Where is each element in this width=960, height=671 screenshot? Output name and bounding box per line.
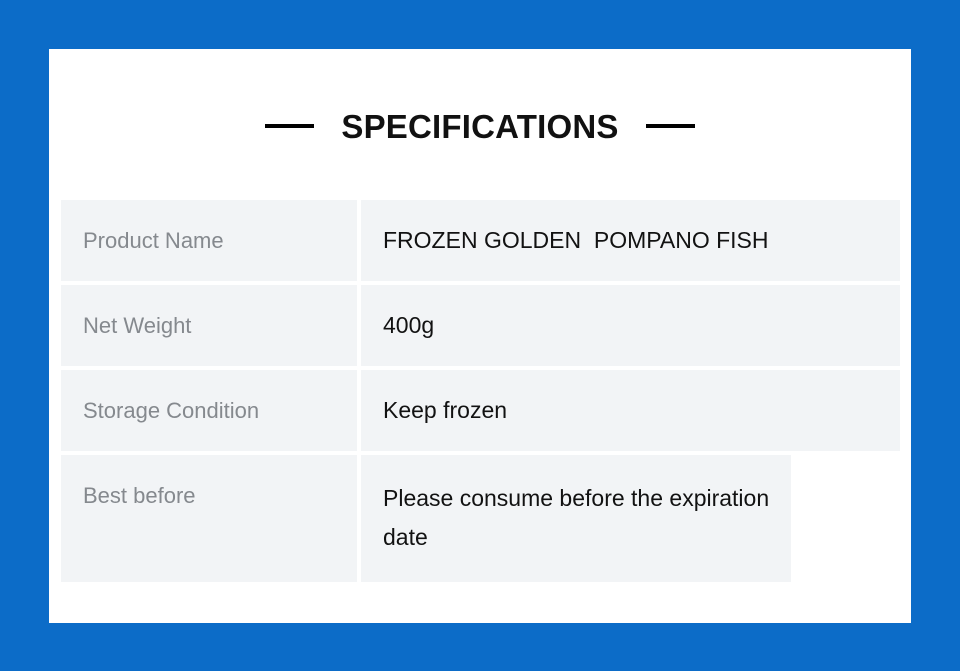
title-left-rule-icon <box>265 124 314 128</box>
page-title: SPECIFICATIONS <box>49 98 911 154</box>
spec-label-product-name: Product Name <box>61 200 357 281</box>
specifications-table: Product Name FROZEN GOLDEN POMPANO FISH … <box>61 200 900 582</box>
spec-value-net-weight: 400g <box>361 285 900 366</box>
page-title-text: SPECIFICATIONS <box>341 110 618 143</box>
spec-label-storage-condition: Storage Condition <box>61 370 357 451</box>
specifications-page: SPECIFICATIONS Product Name FROZEN GOLDE… <box>0 0 960 671</box>
table-row: Storage Condition Keep frozen <box>61 370 900 451</box>
table-row: Product Name FROZEN GOLDEN POMPANO FISH <box>61 200 900 281</box>
specifications-card: SPECIFICATIONS Product Name FROZEN GOLDE… <box>49 49 911 623</box>
spec-label-net-weight: Net Weight <box>61 285 357 366</box>
table-row: Best before Please consume before the ex… <box>61 455 900 582</box>
spec-value-storage-condition: Keep frozen <box>361 370 900 451</box>
spec-value-product-name: FROZEN GOLDEN POMPANO FISH <box>361 200 900 281</box>
spec-label-best-before: Best before <box>61 455 357 582</box>
table-row: Net Weight 400g <box>61 285 900 366</box>
spec-value-best-before: Please consume before the expiration dat… <box>361 455 791 582</box>
title-right-rule-icon <box>646 124 695 128</box>
